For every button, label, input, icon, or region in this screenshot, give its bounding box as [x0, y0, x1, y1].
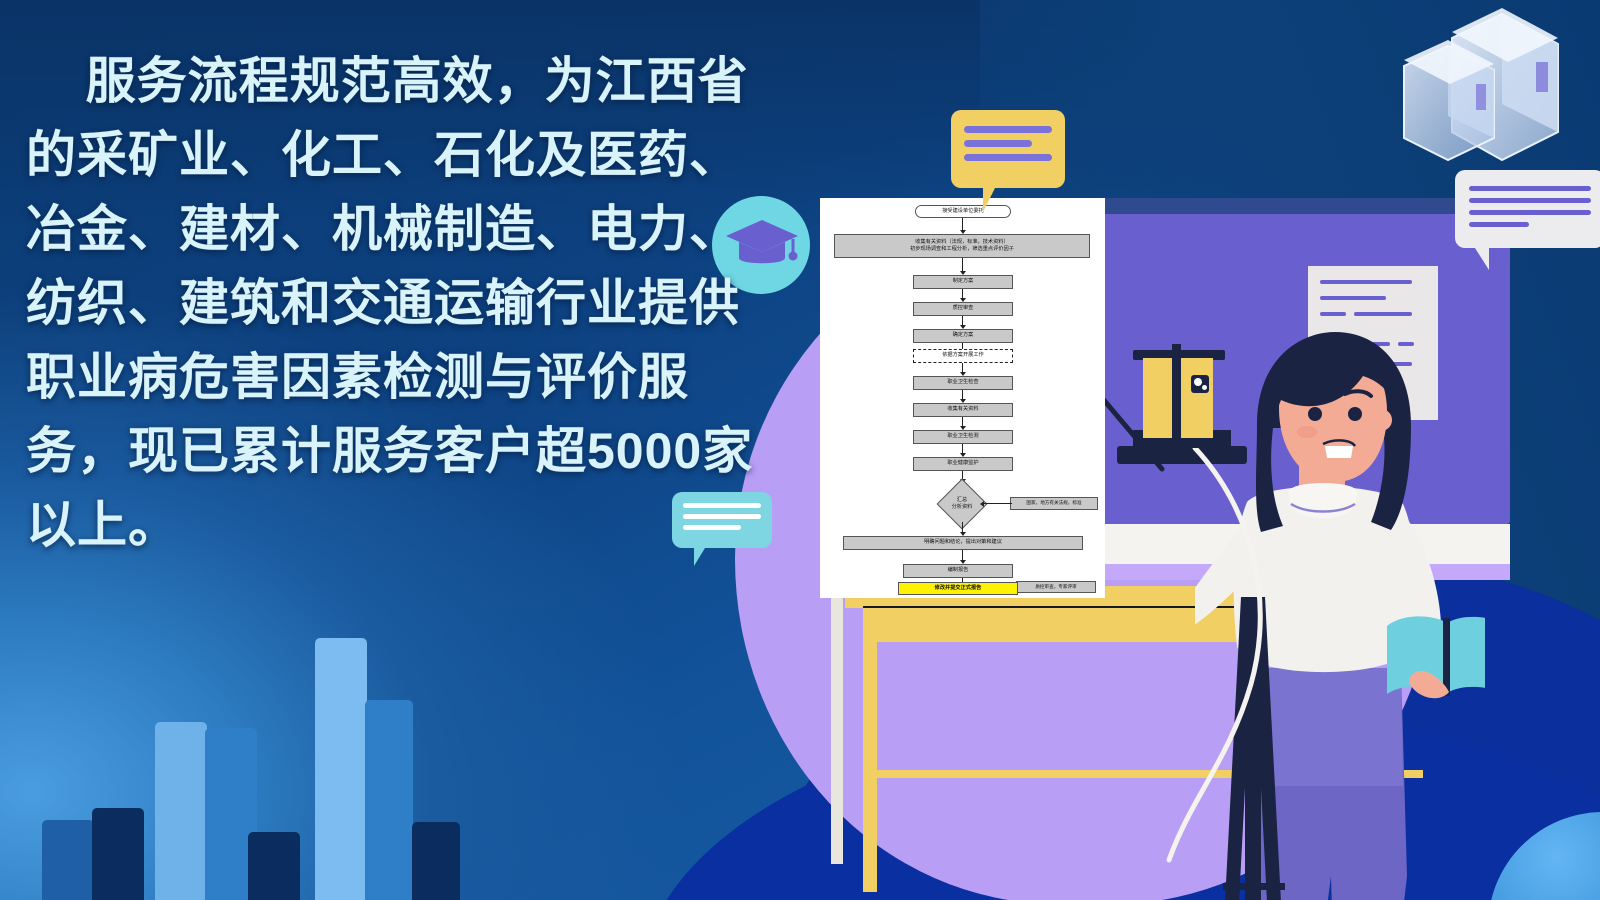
bar-2 [92, 808, 144, 900]
flow-side-node-s2: 质控审查，专家评审 [1016, 581, 1096, 593]
desk-side-panel [831, 594, 843, 864]
flowchart-page: 接受建设单位委托 收集有关资料（法规，标准，技术资料） 初步现场调查和工程分析，… [820, 198, 1105, 598]
flow-node-n3: 制定方案 [913, 275, 1013, 289]
bar-6 [315, 638, 367, 900]
flow-node-n4: 质控审查 [913, 302, 1013, 316]
desk-leg-left [863, 642, 877, 892]
projector-stem [1172, 344, 1181, 444]
page-title: 服务流程规范高效，为江西省的采矿业、化工、石化及医药、冶金、建材、机械制造、电力… [26, 44, 786, 562]
flow-node-n14: 修改并提交正式报告 [898, 582, 1018, 595]
evaluation-workflow-flowchart: 接受建设单位委托 收集有关资料（法规，标准，技术资料） 初步现场调查和工程分析，… [820, 198, 1105, 598]
bar-5 [248, 832, 300, 900]
bar-3 [155, 722, 207, 900]
flow-node-n12: 明确问题和结论，提出对策和建议 [843, 536, 1083, 550]
flow-node-n2: 收集有关资料（法规，标准，技术资料） 初步现场调查和工程分析，筛选重点评价因子 [834, 234, 1090, 258]
flow-node-n13: 编制报告 [903, 564, 1013, 578]
bar-8 [412, 822, 460, 900]
flow-node-n7: 职业卫生检查 [913, 376, 1013, 390]
projector-cable [1165, 448, 1285, 848]
flow-node-n8: 收集有关资料 [913, 403, 1013, 417]
bar-1 [42, 820, 94, 900]
yellow-speech-bubble [951, 110, 1065, 188]
white-speech-bubble [1455, 170, 1600, 248]
flow-node-n10: 职业健康监护 [913, 457, 1013, 471]
projector-lens [1191, 375, 1209, 393]
glass-books-stack [1390, 4, 1600, 184]
classroom-illustration: 接受建设单位委托 收集有关资料（法规，标准，技术资料） 初步现场调查和工程分析，… [735, 198, 1495, 900]
bar-7 [365, 700, 413, 900]
flow-node-n9: 职业卫生检测 [913, 430, 1013, 444]
poster-canvas: 接受建设单位委托 收集有关资料（法规，标准，技术资料） 初步现场调查和工程分析，… [0, 0, 1600, 900]
flow-node-n5: 确定方案 [913, 329, 1013, 343]
flow-side-node-s1: 国家，地方有关法规，标准 [1010, 497, 1098, 510]
flow-node-n1: 接受建设单位委托 [915, 205, 1011, 218]
flow-node-n6: 依据方案开展工作 [913, 349, 1013, 363]
